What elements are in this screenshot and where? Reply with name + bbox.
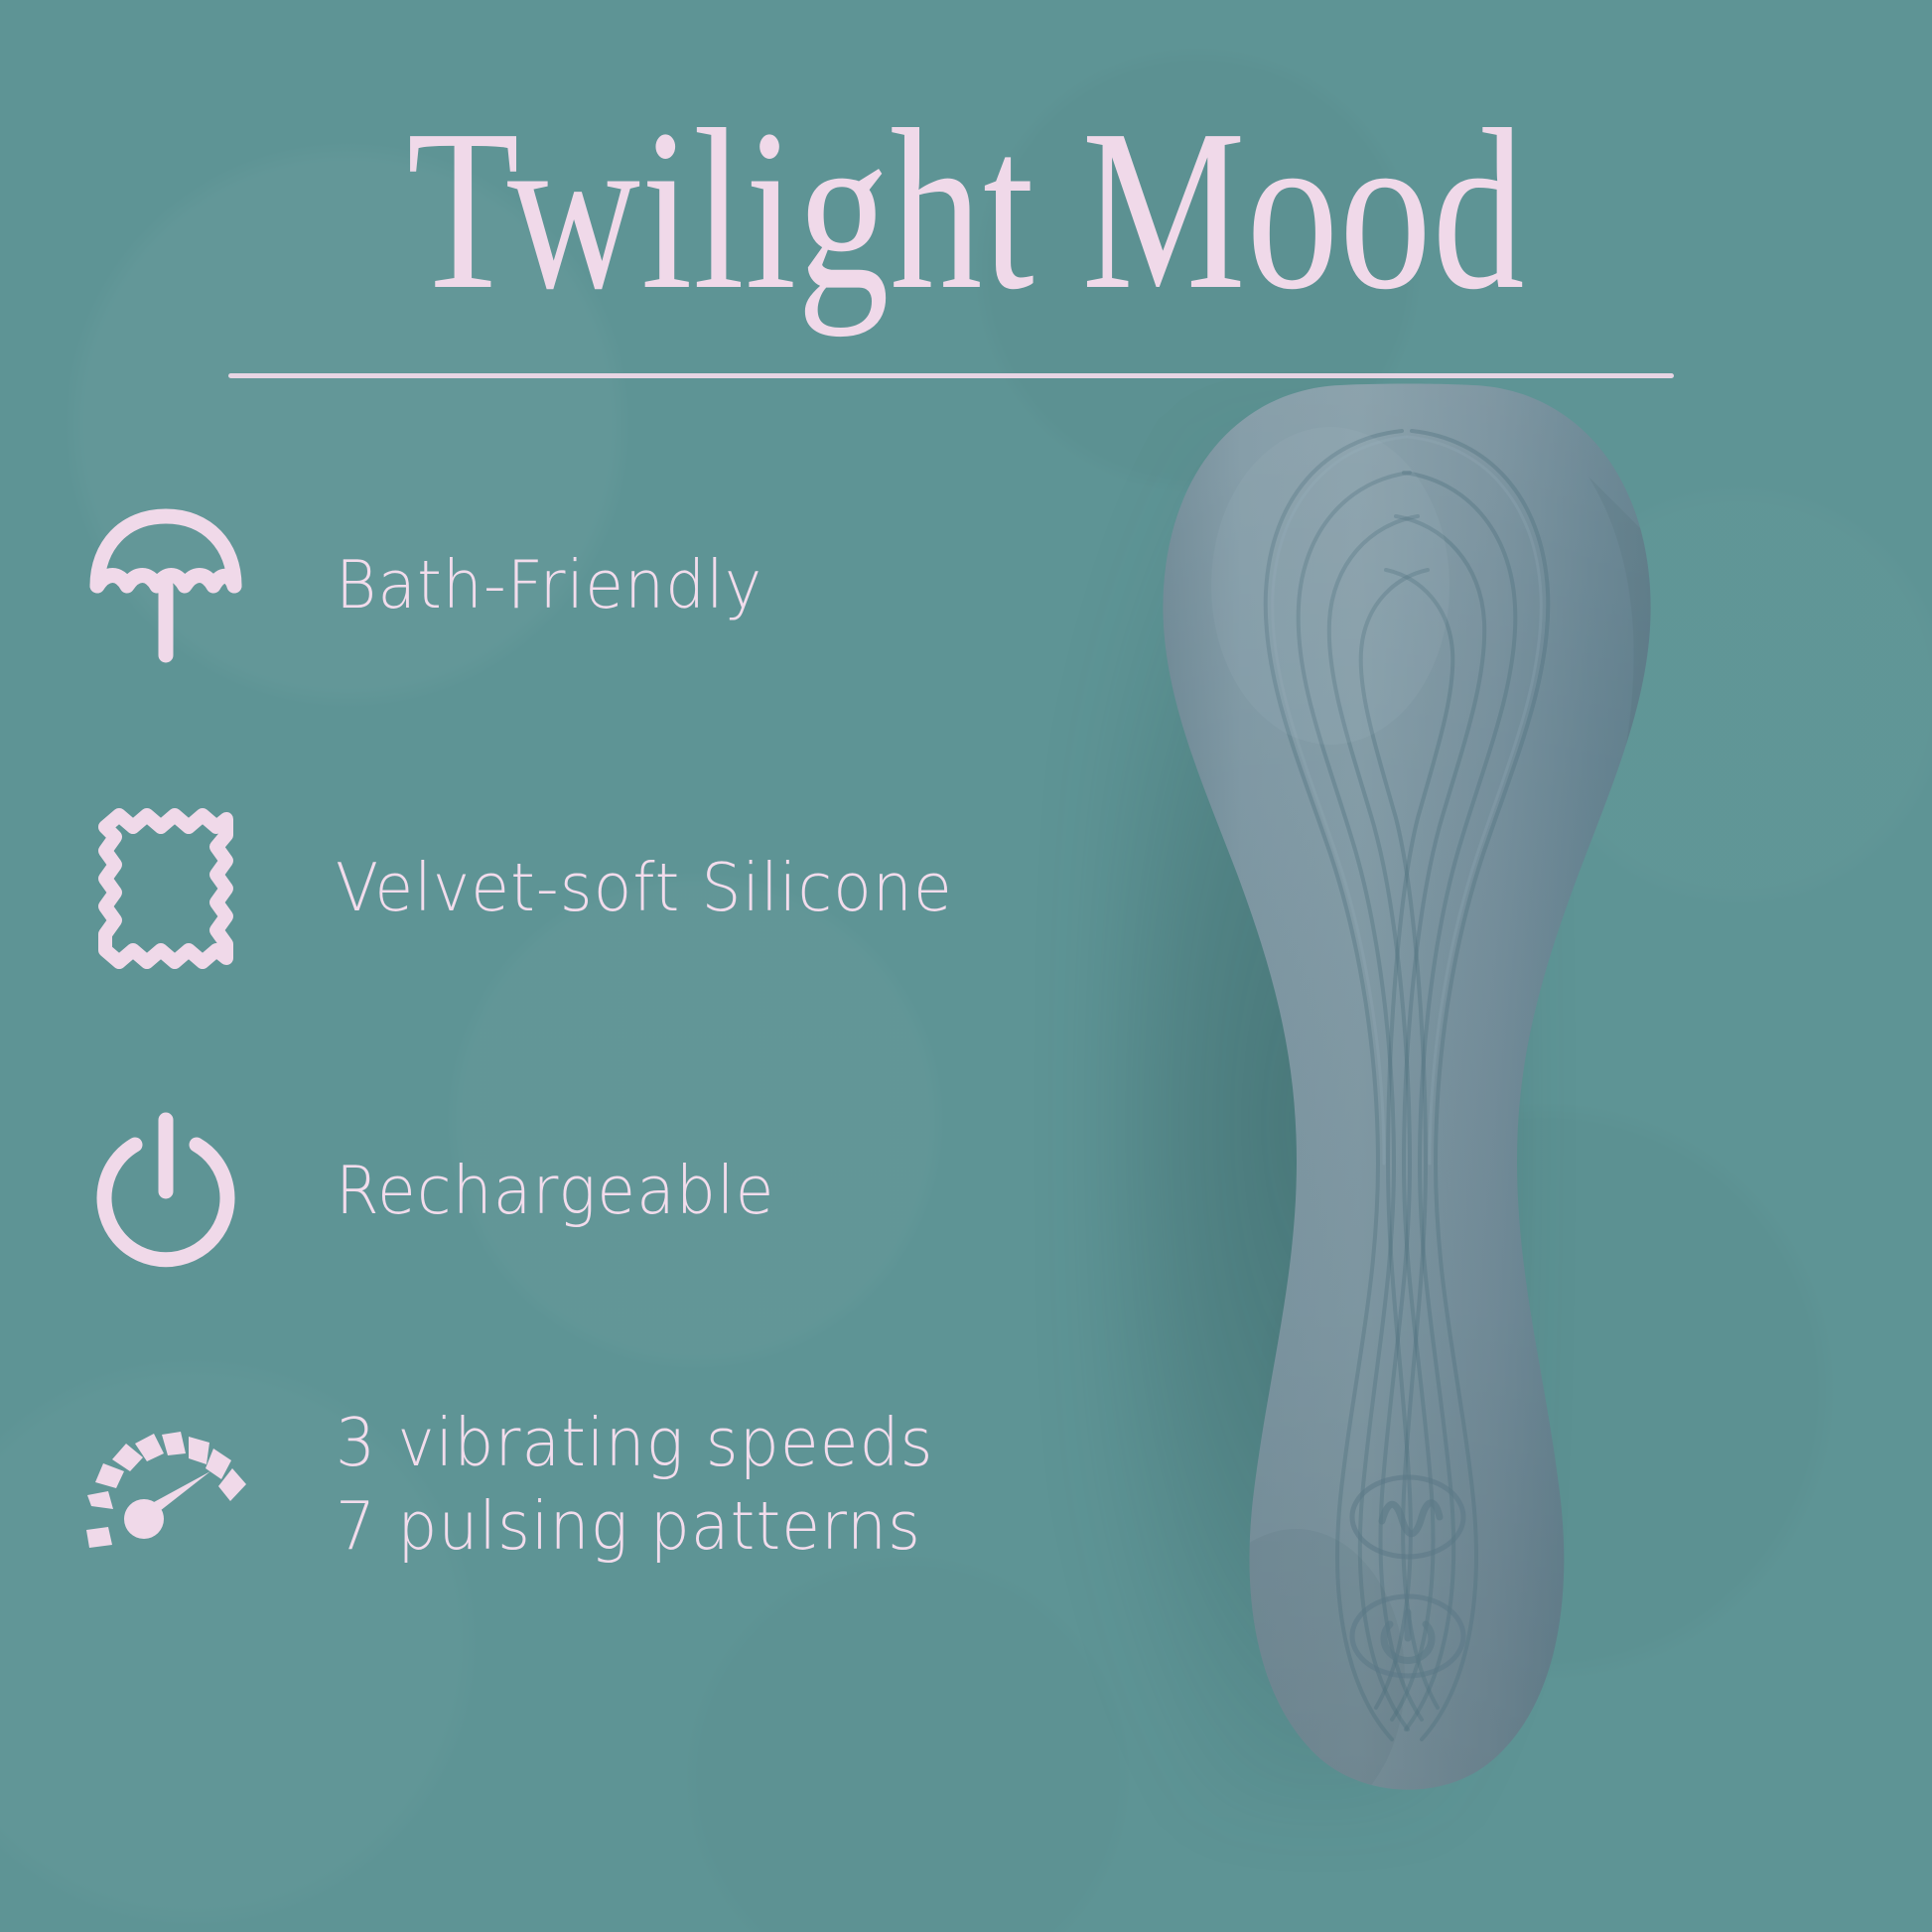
product-feature-card: Twilight Mood Bath-Friendly Velvet-soft … — [0, 0, 1932, 1932]
feature-row-bath-friendly: Bath-Friendly — [71, 491, 1064, 680]
power-icon — [71, 1097, 260, 1286]
feature-label: Velvet-soft Silicone — [336, 845, 953, 931]
product-illustration — [1033, 357, 1886, 1886]
speedometer-icon — [71, 1390, 260, 1579]
feature-label: 3 vibrating speeds 7 pulsing patterns — [336, 1401, 934, 1569]
feature-row-speeds-and-patterns: 3 vibrating speeds 7 pulsing patterns — [71, 1390, 1064, 1579]
umbrella-icon — [71, 491, 260, 680]
feature-label: Bath-Friendly — [336, 542, 762, 628]
feature-label: Rechargeable — [336, 1148, 775, 1234]
feature-row-rechargeable: Rechargeable — [71, 1097, 1064, 1286]
product-image — [1033, 357, 1886, 1886]
page-title: Twilight Mood — [194, 95, 1739, 326]
fabric-swatch-icon — [71, 794, 260, 983]
feature-row-velvet-soft-silicone: Velvet-soft Silicone — [71, 794, 1064, 983]
